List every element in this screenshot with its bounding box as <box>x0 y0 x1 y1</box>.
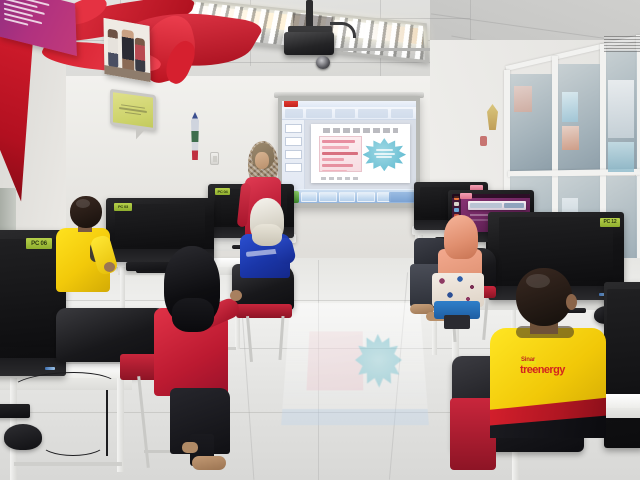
login-greeter-dialog[interactable] <box>468 201 526 210</box>
pc-label: PC 12 <box>600 218 620 227</box>
banner-figure <box>108 29 119 69</box>
slide-caption-text <box>321 177 361 180</box>
classroom-scene: PC 04 PC 03 PC 06 <box>0 0 640 480</box>
student-legs <box>444 315 470 329</box>
wall-light-switch[interactable] <box>210 152 219 165</box>
pull-down-projection-screen[interactable] <box>278 96 420 208</box>
poster-behind-glass <box>562 126 579 150</box>
starburst-text-line <box>376 156 392 158</box>
student-hand <box>104 262 115 272</box>
student-hand <box>230 290 242 301</box>
hair-highlight <box>76 199 90 208</box>
shirt-print-line2: treenergy <box>520 364 565 376</box>
student-ear <box>566 294 577 310</box>
rocket-wall-decoration <box>191 112 199 160</box>
slide-title-text <box>323 128 398 133</box>
mouse-front-left[interactable] <box>4 424 42 450</box>
shirt-print-line1: Sinar <box>520 357 536 364</box>
pc-label: PC 04 <box>215 188 230 195</box>
poster-behind-glass <box>608 142 634 172</box>
mouse-cable <box>40 430 106 456</box>
photo-banner-poster <box>104 18 151 82</box>
pc-label: PC 06 <box>26 238 52 249</box>
student-foot <box>182 442 198 453</box>
poster-behind-glass <box>514 86 532 112</box>
speech-bubble-wall-sign <box>110 89 156 131</box>
os-taskbar[interactable] <box>282 189 416 203</box>
keyboard-front-left[interactable] <box>0 404 30 418</box>
student-hijab <box>444 215 478 259</box>
teacher-face <box>255 152 269 169</box>
projector-lens-icon <box>316 56 330 69</box>
starburst-text-line <box>376 149 393 151</box>
student-foot <box>192 456 226 470</box>
student-peach-hijab-right <box>430 215 488 331</box>
starburst-text-line <box>374 153 395 155</box>
student-black-hijab-center <box>150 246 250 472</box>
shirt-print: Sinar treenergy <box>520 352 594 380</box>
hijab-edge <box>252 224 282 246</box>
taskbar-item[interactable] <box>319 192 337 202</box>
ceiling-projector[interactable] <box>284 32 334 55</box>
taskbar-item[interactable] <box>301 192 317 202</box>
system-tray[interactable] <box>389 192 415 202</box>
student-yellow-shirt-left <box>54 196 114 312</box>
speech-bubble-tail <box>136 124 145 140</box>
window-blinds <box>604 36 640 52</box>
slide-canvas[interactable] <box>305 120 416 189</box>
cable-drop <box>106 390 108 456</box>
poster-behind-glass <box>562 92 578 122</box>
projected-image <box>282 101 416 203</box>
blue-starburst-callout <box>363 138 407 171</box>
student-yellow-shirt-right: Sinar treenergy <box>490 268 610 476</box>
app-ribbon-toolbar[interactable] <box>282 107 416 120</box>
sign-text-line <box>125 112 141 116</box>
poster-behind-glass <box>608 80 634 138</box>
projector-support-rod <box>330 48 430 51</box>
pink-document-thumbnail <box>319 136 363 173</box>
taskbar-item[interactable] <box>357 192 375 202</box>
banner-figure <box>122 29 135 73</box>
current-slide[interactable] <box>311 124 410 183</box>
banner-figure <box>135 37 146 73</box>
hijab-drape <box>172 298 214 332</box>
monitor-label-sticker <box>460 193 472 199</box>
taskbar-item[interactable] <box>339 192 355 202</box>
hair-highlight <box>526 274 550 288</box>
pc-label: PC 03 <box>114 203 132 211</box>
wall-ornament-icon <box>480 136 487 146</box>
